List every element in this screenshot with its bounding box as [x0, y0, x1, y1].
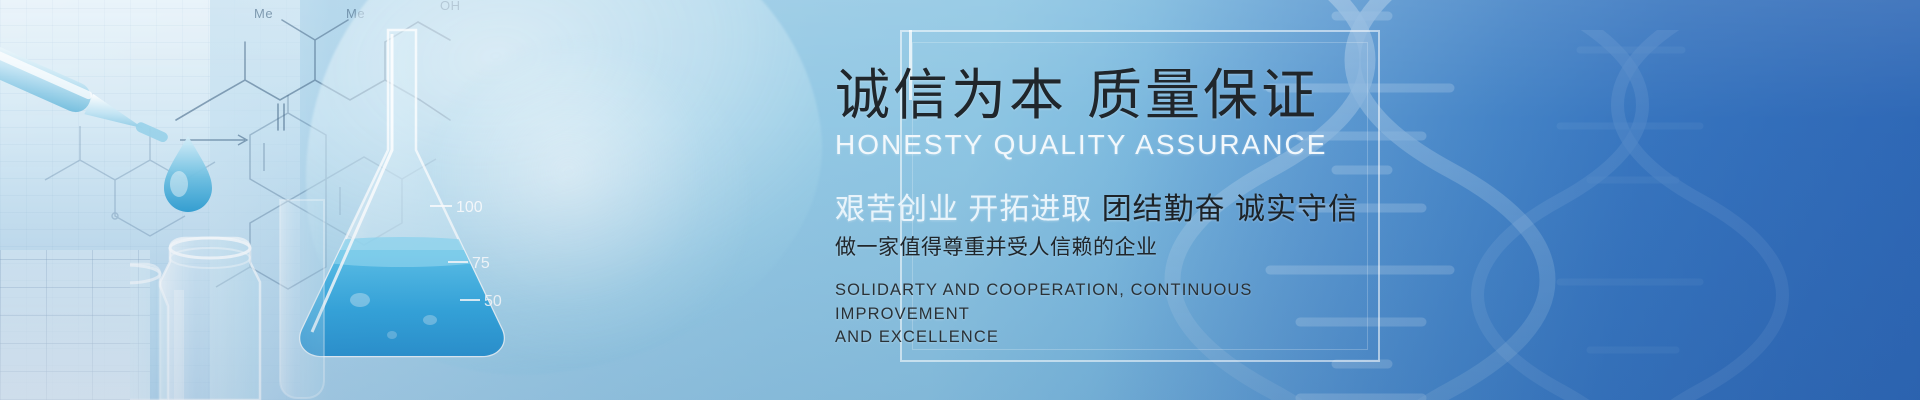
- motto-seg-2: 开拓进取: [968, 193, 1092, 226]
- banner-copy: 诚信为本质量保证 HONESTY QUALITY ASSURANCE 艰苦创业 …: [835, 66, 1475, 350]
- footer-english: SOLIDARTY AND COOPERATION, CONTINUOUS IM…: [835, 279, 1355, 349]
- motto-line: 艰苦创业 开拓进取 团结勤奋 诚实守信: [835, 184, 1475, 228]
- headline-english: HONESTY QUALITY ASSURANCE: [835, 129, 1475, 161]
- motto-seg-1: 艰苦创业: [835, 193, 959, 226]
- motto-seg-3: 团结勤奋: [1102, 193, 1226, 226]
- headline-chinese: 诚信为本质量保证: [835, 66, 1475, 125]
- footer-english-line-2: AND EXCELLENCE: [835, 326, 1355, 349]
- headline-part-2: 质量保证: [1087, 64, 1319, 126]
- headline-part-1: 诚信为本: [835, 64, 1067, 126]
- hero-banner: Me Me OH: [0, 0, 1920, 400]
- motto-tagline: 做一家值得尊重并受人信赖的企业: [835, 231, 1475, 261]
- motto-seg-4: 诚实守信: [1235, 193, 1359, 226]
- footer-english-line-1: SOLIDARTY AND COOPERATION, CONTINUOUS IM…: [835, 279, 1355, 326]
